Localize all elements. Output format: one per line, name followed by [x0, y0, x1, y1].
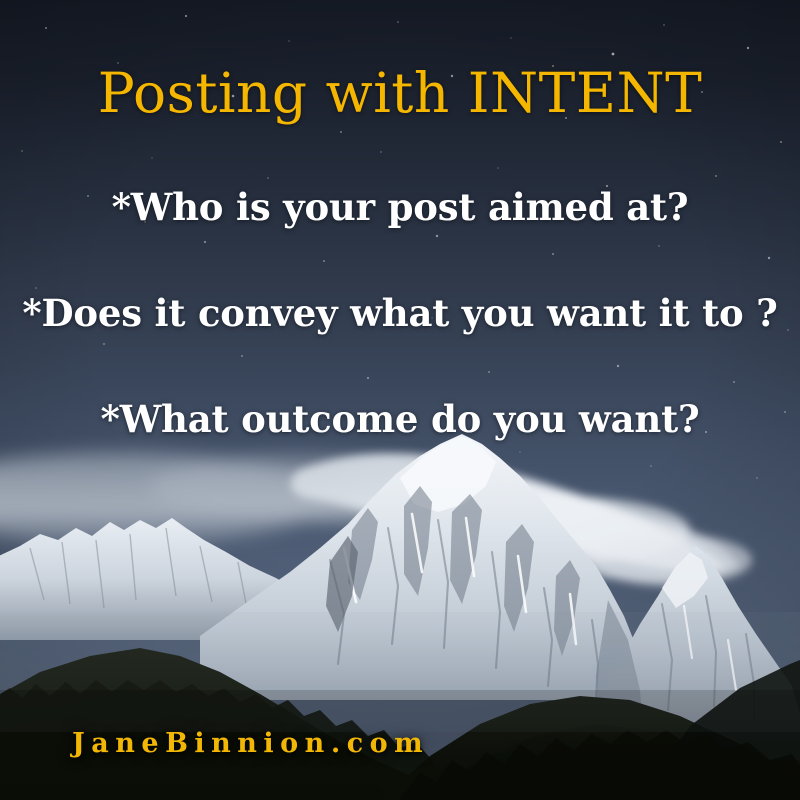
- question-line-3: *What outcome do you want?: [0, 398, 800, 441]
- page-title: Posting with INTENT: [0, 63, 800, 124]
- question-line-2: *Does it convey what you want it to ?: [0, 292, 800, 335]
- question-line-1: *Who is your post aimed at?: [0, 186, 800, 229]
- poster-canvas: Posting with INTENT *Who is your post ai…: [0, 0, 800, 800]
- brand-website-label: JaneBinnion.com: [72, 728, 429, 759]
